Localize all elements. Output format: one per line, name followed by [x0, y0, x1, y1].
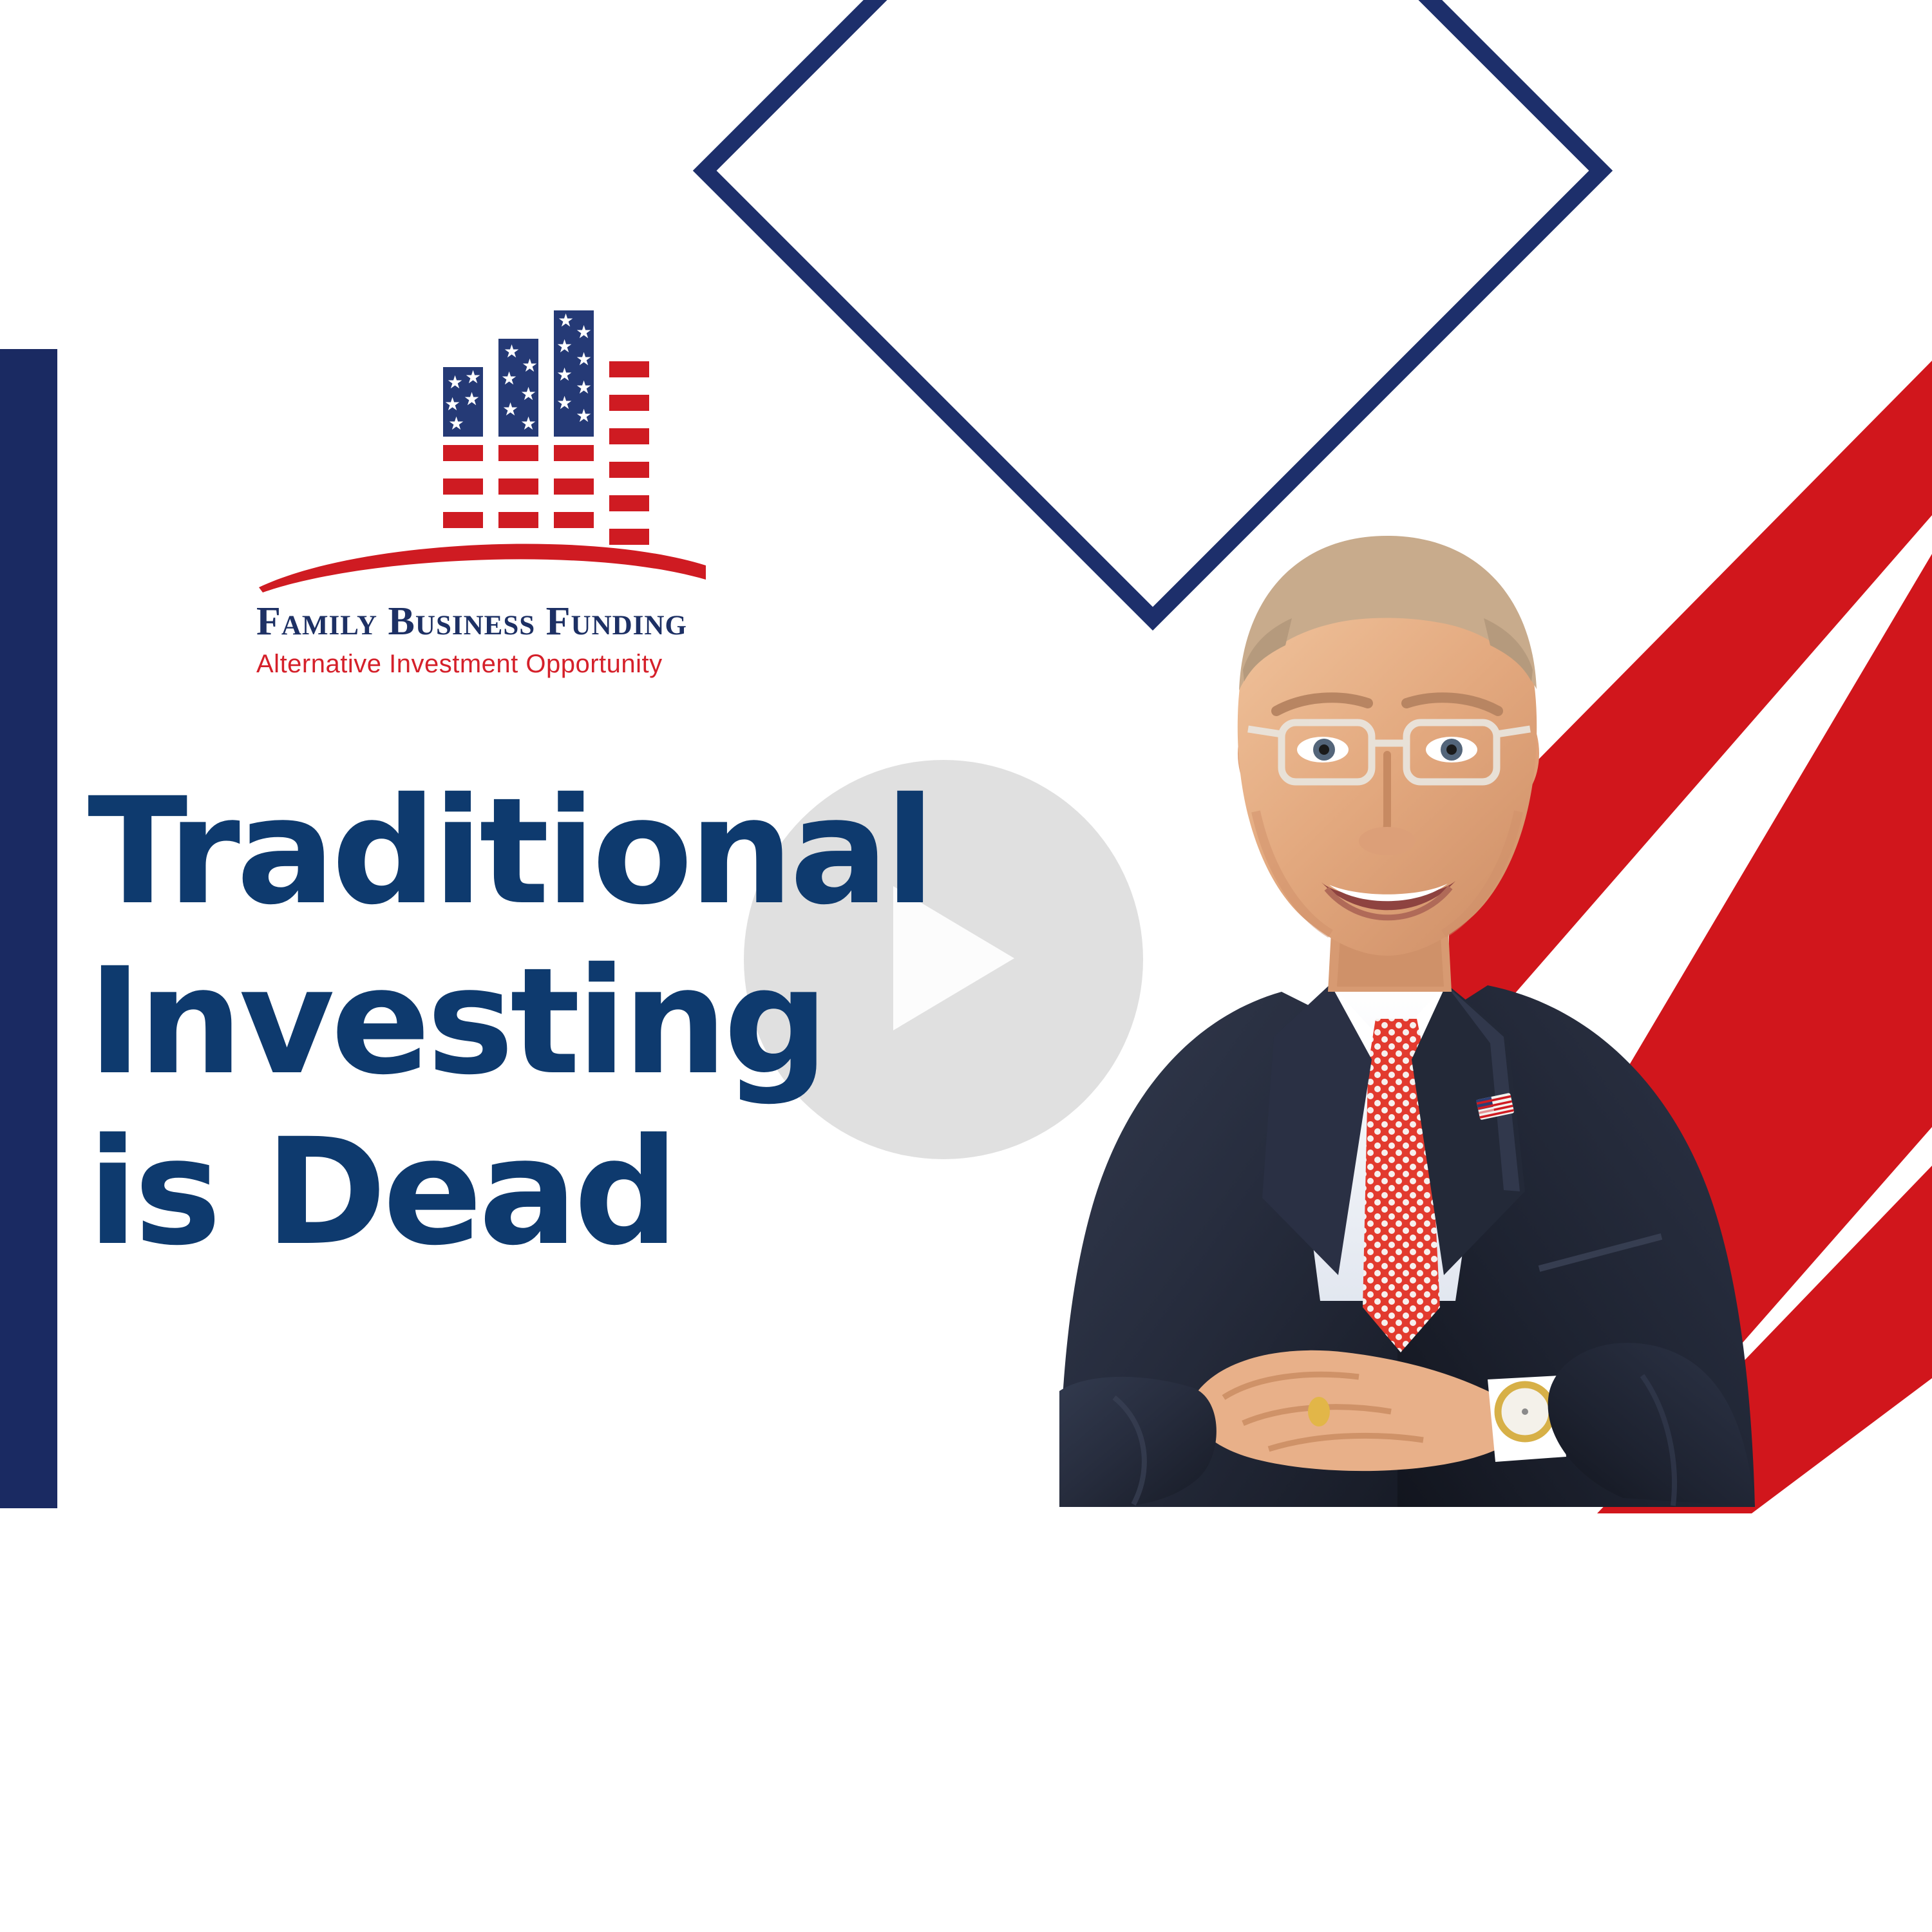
- headline-line-2: Investing: [88, 936, 925, 1106]
- logo-arc-swoosh: [256, 518, 707, 595]
- headline-line-3: is Dead: [88, 1107, 925, 1277]
- logo-wordmark: Family Business Funding Alternative Inve…: [256, 599, 707, 679]
- logo-bar-1: ★ ★ ★ ★ ★: [443, 367, 483, 528]
- logo-bar-4: [609, 367, 649, 528]
- page-title: Traditional Investing is Dead: [88, 766, 925, 1277]
- logo-tagline: Alternative Investment Opportunity: [256, 650, 707, 679]
- left-navy-accent-bar: [0, 349, 57, 1508]
- logo-bar-2: ★ ★ ★ ★ ★ ★: [498, 367, 538, 528]
- logo-bar-3: ★ ★ ★ ★ ★ ★ ★ ★: [554, 367, 594, 528]
- flag-bar-chart-icon: ★ ★ ★ ★ ★ ★ ★ ★ ★ ★ ★: [443, 367, 688, 528]
- brand-logo: ★ ★ ★ ★ ★ ★ ★ ★ ★ ★ ★: [256, 367, 707, 670]
- portrait-photo: [921, 477, 1848, 1507]
- poster-canvas: ★ ★ ★ ★ ★ ★ ★ ★ ★ ★ ★: [0, 0, 1932, 1932]
- headline-line-1: Traditional: [88, 766, 925, 936]
- logo-company-name: Family Business Funding: [256, 599, 707, 645]
